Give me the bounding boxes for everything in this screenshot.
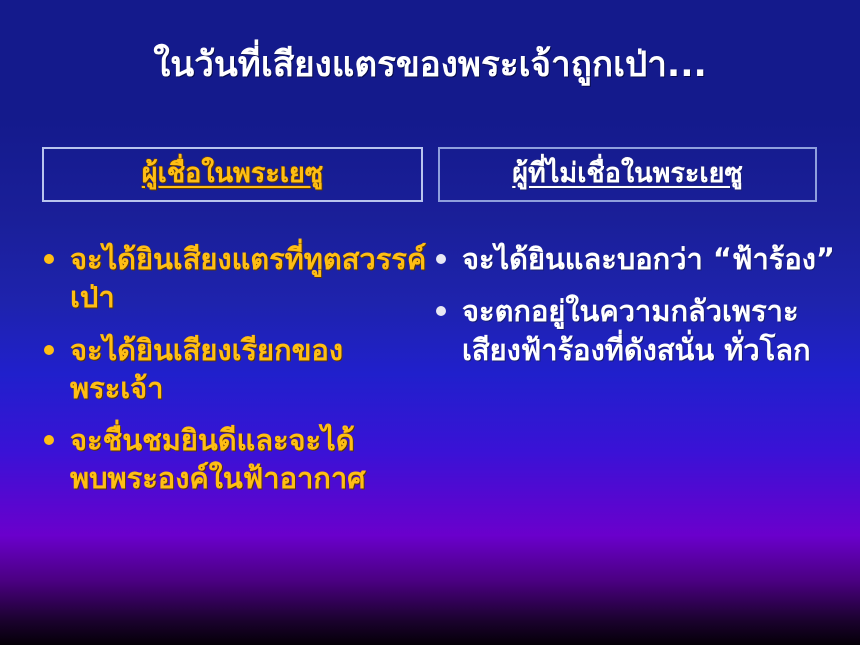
column-header-box-non-believers: ผู้ที่ไม่เชื่อในพระเยซู: [438, 147, 817, 202]
bullet-dot-icon: [44, 435, 54, 445]
bullet-column-believers: จะได้ยินเสียงแตรที่ทูตสวรรค์เป่า จะได้ยิ…: [44, 240, 434, 512]
list-item: จะได้ยินเสียงแตรที่ทูตสวรรค์เป่า: [44, 240, 434, 317]
list-item-label: จะชื่นชมยินดีและจะได้พบพระองค์ในฟ้าอากาศ: [70, 421, 434, 498]
bullet-dot-icon: [44, 345, 54, 355]
list-item: จะตกอยู่ในความกลัวเพราะเสียงฟ้าร้องที่ดั…: [436, 292, 836, 369]
list-item: จะได้ยินและบอกว่า “ฟ้าร้อง”: [436, 240, 836, 278]
bullet-dot-icon: [436, 306, 446, 316]
list-item-label: จะตกอยู่ในความกลัวเพราะเสียงฟ้าร้องที่ดั…: [462, 292, 836, 369]
bullet-column-non-believers: จะได้ยินและบอกว่า “ฟ้าร้อง” จะตกอยู่ในคว…: [436, 240, 836, 383]
bullet-dot-icon: [436, 254, 446, 264]
list-item-label: จะได้ยินเสียงแตรที่ทูตสวรรค์เป่า: [70, 240, 434, 317]
bullet-dot-icon: [44, 254, 54, 264]
list-item: จะชื่นชมยินดีและจะได้พบพระองค์ในฟ้าอากาศ: [44, 421, 434, 498]
list-item: จะได้ยินเสียงเรียกของพระเจ้า: [44, 331, 434, 408]
column-header-box-believers: ผู้เชื่อในพระเยซู: [42, 147, 423, 202]
presentation-slide: ในวันที่เสียงแตรของพระเจ้าถูกเป่า... ผู้…: [0, 0, 860, 645]
column-header-label-believers: ผู้เชื่อในพระเยซู: [142, 160, 323, 189]
list-item-label: จะได้ยินและบอกว่า “ฟ้าร้อง”: [462, 240, 836, 278]
list-item-label: จะได้ยินเสียงเรียกของพระเจ้า: [70, 331, 434, 408]
column-header-label-non-believers: ผู้ที่ไม่เชื่อในพระเยซู: [512, 160, 743, 189]
slide-title: ในวันที่เสียงแตรของพระเจ้าถูกเป่า...: [0, 46, 860, 85]
